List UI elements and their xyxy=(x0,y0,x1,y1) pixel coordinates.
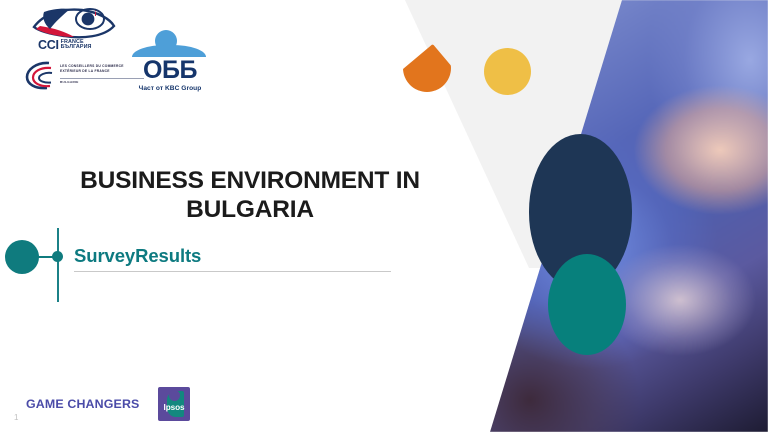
decorative-vertical-rule xyxy=(57,228,59,302)
cci-abbreviation: CCI xyxy=(38,39,59,52)
teal-circle-shape xyxy=(548,254,626,355)
cci-france-bulgaria-logo: i CCI FRANCE БЪЛГАРИЯ xyxy=(24,6,124,58)
cce-swirl-mark-icon xyxy=(22,58,56,92)
page-subtitle: SurveyResults xyxy=(74,245,201,267)
cci-eye-mark-icon: i xyxy=(30,6,116,40)
yellow-circle-shape xyxy=(484,48,531,95)
orange-half-circle-shape xyxy=(403,44,451,92)
cci-wordmark: CCI FRANCE БЪЛГАРИЯ xyxy=(38,39,92,52)
ipsos-wordmark: Ipsos xyxy=(158,403,190,412)
presentation-slide: i CCI FRANCE БЪЛГАРИЯ LES CONSEIL xyxy=(0,0,768,432)
ipsos-logo: Ipsos xyxy=(158,387,190,421)
svg-text:i: i xyxy=(95,11,97,18)
decorative-small-dot xyxy=(52,251,63,262)
obb-letters: ОББ xyxy=(124,58,216,83)
cci-country-bulgaria: БЪЛГАРИЯ xyxy=(61,45,92,51)
decorative-large-dot xyxy=(5,240,39,274)
touchscreen-photo xyxy=(470,0,768,432)
ipsos-mark-dot-icon xyxy=(169,390,180,401)
subtitle-underline xyxy=(74,271,391,272)
obb-bank-logo: ОББ Част от KBC Group xyxy=(124,28,216,100)
subtitle-group: SurveyResults xyxy=(0,228,420,328)
grey-diagonal-band xyxy=(398,0,768,268)
game-changers-tagline: GAME CHANGERS xyxy=(26,397,139,411)
footer: GAME CHANGERS Ipsos xyxy=(0,386,220,432)
page-number: 1 xyxy=(14,413,18,422)
navy-circle-shape xyxy=(529,134,632,290)
cce-line-3: BULGARIE xyxy=(60,80,79,84)
obb-tagline: Част от KBC Group xyxy=(124,85,216,92)
partner-logo-row: i CCI FRANCE БЪЛГАРИЯ LES CONSEIL xyxy=(14,6,214,102)
page-title: BUSINESS ENVIRONMENT IN BULGARIA xyxy=(48,166,452,225)
